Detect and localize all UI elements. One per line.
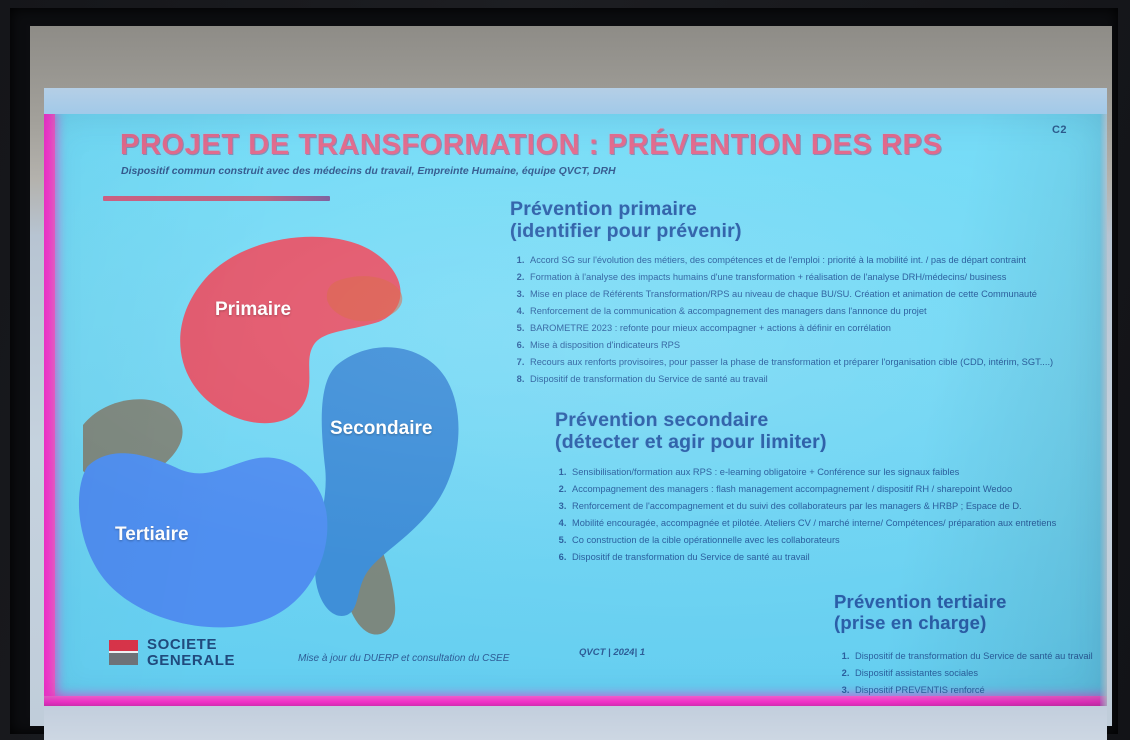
list-item: Recours aux renforts provisoires, pour p… [527, 354, 1107, 371]
list-item: Renforcement de l'accompagnement et du s… [569, 498, 1107, 515]
list-item: Dispositif PREVENTIS renforcé [852, 682, 1107, 699]
section-heading-secondaire: Prévention secondaire (détecter et agir … [555, 410, 827, 454]
slide-edge-right [1100, 114, 1107, 706]
list-item: Dispositif de transformation du Service … [527, 371, 1107, 388]
section-heading-secondaire-line2: (détecter et agir pour limiter) [555, 432, 827, 454]
slide-title: PROJET DE TRANSFORMATION : PRÉVENTION DE… [120, 129, 942, 162]
projected-slide-photo: C2 PROJET DE TRANSFORMATION : PRÉVENTION… [0, 0, 1130, 740]
list-item: Co construction de la cible opérationnel… [569, 532, 1107, 549]
projection-bottom-band [44, 706, 1107, 740]
diagram-svg [75, 219, 495, 649]
section-heading-tertiaire-line1: Prévention tertiaire [834, 591, 1007, 612]
prevention-levels-diagram: Primaire Secondaire Tertiaire [75, 219, 495, 649]
list-item: Sensibilisation/formation aux RPS : e-le… [569, 464, 1107, 481]
slide-edge-left [44, 114, 55, 706]
tertiaire-shape [79, 453, 327, 627]
list-item: Accompagnement des managers : flash mana… [569, 481, 1107, 498]
footer-note: Mise à jour du DUERP et consultation du … [298, 653, 509, 664]
section-heading-primaire-line2: (identifier pour prévenir) [510, 221, 742, 243]
list-item: Mise à disposition d'indicateurs RPS [527, 337, 1107, 354]
section-list-secondaire: Sensibilisation/formation aux RPS : e-le… [547, 464, 1107, 566]
section-heading-tertiaire: Prévention tertiaire (prise en charge) [834, 592, 1007, 633]
list-item: Dispositif de transformation du Service … [569, 549, 1107, 566]
societe-generale-logo-icon [109, 640, 138, 665]
title-underline-rule [103, 196, 330, 201]
slide-subtitle: Dispositif commun construit avec des méd… [121, 165, 616, 177]
section-heading-primaire: Prévention primaire (identifier pour pré… [510, 199, 742, 243]
list-item: Formation à l'analyse des impacts humain… [527, 269, 1107, 286]
list-item: Mobilité encouragée, accompagnée et pilo… [569, 515, 1107, 532]
section-list-tertiaire: Dispositif de transformation du Service … [830, 648, 1107, 699]
list-item: Dispositif de transformation du Service … [852, 648, 1107, 665]
logo-line-2: GENERALE [147, 653, 235, 668]
section-list-primaire: Accord SG sur l'évolution des métiers, d… [505, 252, 1107, 388]
logo-line-1: SOCIETE [147, 637, 235, 652]
presentation-slide: C2 PROJET DE TRANSFORMATION : PRÉVENTION… [44, 114, 1107, 706]
societe-generale-logo: SOCIETE GENERALE [109, 637, 235, 668]
list-item: Dispositif assistantes sociales [852, 665, 1107, 682]
confidentiality-marking: C2 [1052, 124, 1067, 136]
list-item: BAROMETRE 2023 : refonte pour mieux acco… [527, 320, 1107, 337]
list-item: Accord SG sur l'évolution des métiers, d… [527, 252, 1107, 269]
section-heading-secondaire-line1: Prévention secondaire [555, 409, 768, 431]
list-item: Mise en place de Référents Transformatio… [527, 286, 1107, 303]
list-item: Renforcement de la communication & accom… [527, 303, 1107, 320]
footer-reference: QVCT | 2024| 1 [579, 647, 645, 658]
societe-generale-wordmark: SOCIETE GENERALE [147, 637, 235, 668]
section-heading-tertiaire-line2: (prise en charge) [834, 613, 1007, 634]
section-heading-primaire-line1: Prévention primaire [510, 198, 697, 220]
